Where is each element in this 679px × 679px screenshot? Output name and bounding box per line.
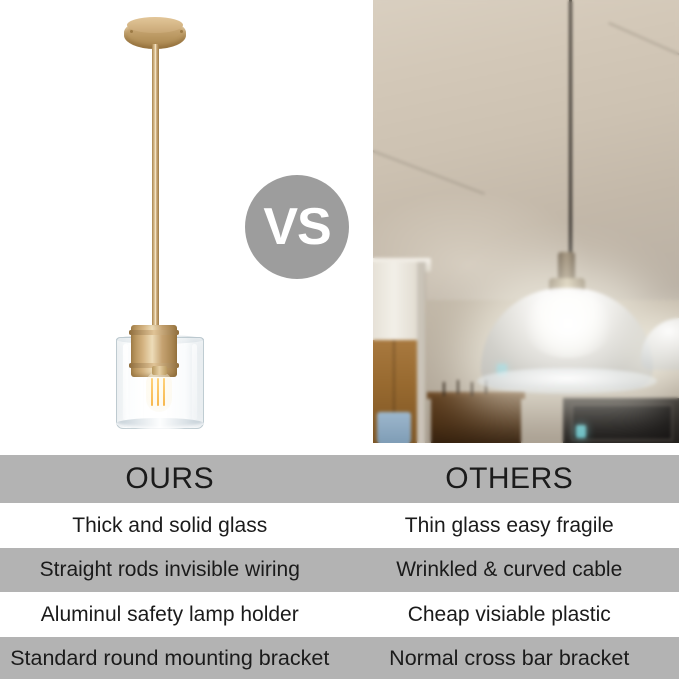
comparison-infographic: VS <box>0 0 679 679</box>
vs-label: VS <box>263 201 330 253</box>
console-table <box>431 396 521 443</box>
table-row: Aluminul safety lamp holder Cheap visiab… <box>0 592 679 637</box>
shade-highlight-right <box>192 344 197 420</box>
others-feature-4: Normal cross bar bracket <box>340 646 679 671</box>
shade-bottom-rim <box>116 418 204 429</box>
wrinkled-curved-cable <box>569 0 572 258</box>
rack-hook-3 <box>471 382 473 396</box>
bulb-filament-2 <box>157 378 159 406</box>
header-others: OTHERS <box>340 462 679 496</box>
bulb-glare <box>523 292 613 358</box>
bulb-base <box>152 366 167 375</box>
table-row: Standard round mounting bracket Normal c… <box>0 637 679 679</box>
header-ours: OURS <box>0 462 340 496</box>
table-header-row: OURS OTHERS <box>0 455 679 503</box>
rack-hook-2 <box>457 380 459 394</box>
comparison-table: OURS OTHERS Thick and solid glass Thin g… <box>0 455 679 679</box>
rod-highlight <box>155 44 156 329</box>
blue-items <box>377 412 411 443</box>
table-row: Straight rods invisible wiring Wrinkled … <box>0 548 679 592</box>
others-feature-3: Cheap visiable plastic <box>340 603 679 627</box>
others-pendant-light-photo <box>373 0 679 443</box>
socket-ring-top <box>129 330 179 335</box>
others-feature-1: Thin glass easy fragile <box>340 514 679 538</box>
ours-feature-3: Aluminul safety lamp holder <box>0 603 340 627</box>
rack-hook-1 <box>443 382 445 396</box>
canopy-screw-right <box>180 30 183 33</box>
shade-highlight-left <box>123 344 128 420</box>
edison-bulb <box>146 372 172 412</box>
teal-light-accent-2 <box>576 425 586 438</box>
vs-badge: VS <box>245 175 349 279</box>
ours-feature-2: Straight rods invisible wiring <box>0 558 340 582</box>
table-row: Thick and solid glass Thin glass easy fr… <box>0 503 679 548</box>
fireplace-opening <box>571 404 673 441</box>
bulb-filament-3 <box>163 378 165 406</box>
ours-feature-1: Thick and solid glass <box>0 514 340 538</box>
canopy-top-face <box>127 17 183 33</box>
canopy-screw-left <box>130 30 133 33</box>
dome-bottom-rim <box>477 368 657 394</box>
product-images-section: VS <box>0 0 679 455</box>
others-feature-2: Wrinkled & curved cable <box>340 558 679 582</box>
bulb-filament-1 <box>151 378 153 406</box>
ours-feature-4: Standard round mounting bracket <box>0 646 340 671</box>
